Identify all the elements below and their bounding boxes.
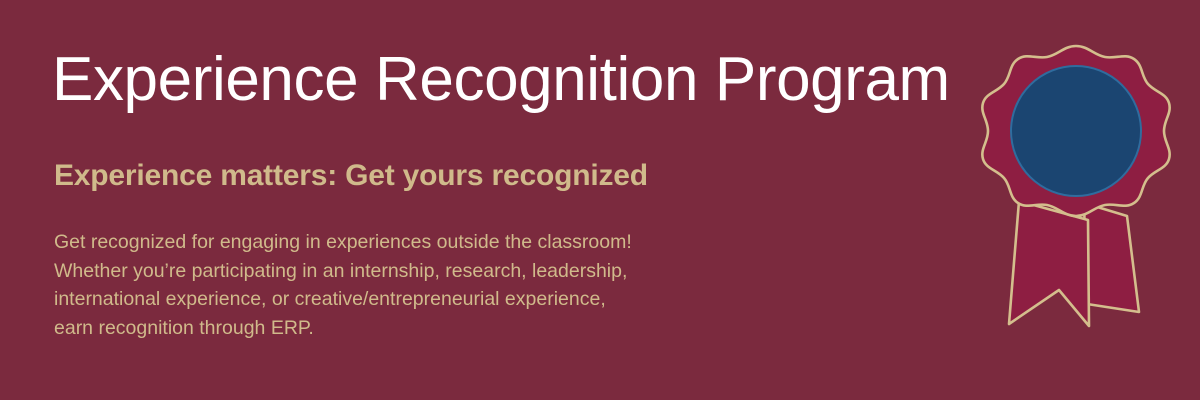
award-ribbon-graphic [976, 38, 1176, 368]
experience-recognition-banner: Experience Recognition Program Experienc… [0, 0, 1200, 400]
page-title: Experience Recognition Program [52, 47, 950, 112]
banner-subtitle: Experience matters: Get yours recognized [54, 159, 648, 194]
description-line: earn recognition through ERP. [54, 314, 632, 343]
description-line: Whether you’re participating in an inter… [54, 257, 632, 286]
ribbon-tail-left [1009, 201, 1089, 326]
award-ribbon-icon [976, 38, 1176, 368]
ribbon-tails [1009, 201, 1139, 326]
ribbon-tail-right [1084, 203, 1139, 312]
banner-text-content: Experience Recognition Program Experienc… [52, 0, 932, 400]
description-line: Get recognized for engaging in experienc… [54, 228, 632, 257]
rosette-center-circle [1011, 66, 1141, 196]
banner-description: Get recognized for engaging in experienc… [54, 228, 632, 342]
description-line: international experience, or creative/en… [54, 285, 632, 314]
